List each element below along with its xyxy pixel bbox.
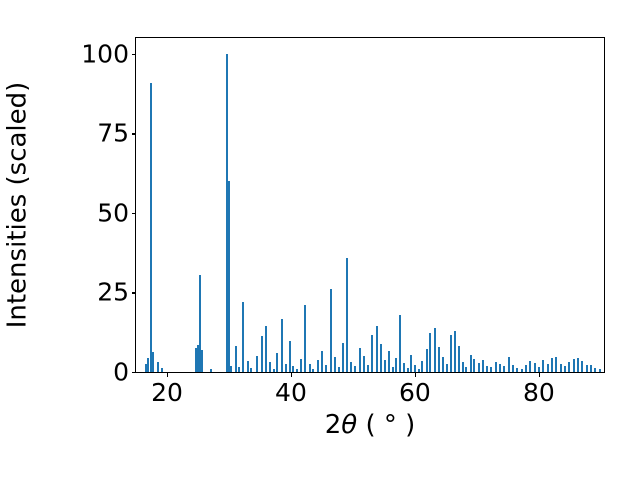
bar <box>242 302 244 372</box>
bar <box>490 367 492 372</box>
bar <box>503 366 505 372</box>
bar <box>273 369 275 372</box>
bar <box>250 368 252 372</box>
x-axis-label: 2θ ( ° ) <box>135 412 605 438</box>
plot-axes: 0255075100 20406080 <box>135 37 605 373</box>
bar <box>292 366 294 372</box>
bar <box>418 369 420 372</box>
xrd-figure: Intensities (scaled) 0255075100 20406080… <box>0 0 640 480</box>
x-tick-mark <box>167 372 168 377</box>
bar <box>473 359 475 372</box>
x-tick-mark <box>291 372 292 377</box>
bar <box>470 355 472 372</box>
bar <box>534 363 536 372</box>
bar <box>281 319 283 372</box>
bar <box>376 326 378 372</box>
bar <box>486 366 488 372</box>
bar <box>388 351 390 372</box>
bar <box>434 328 436 372</box>
x-tick-mark <box>415 372 416 377</box>
bar <box>312 369 314 372</box>
theta-symbol: θ <box>341 410 357 440</box>
bar <box>363 356 365 372</box>
y-tick-label: 25 <box>97 280 129 305</box>
bar <box>577 358 579 372</box>
bar <box>568 362 570 372</box>
y-tick-mark <box>132 372 137 373</box>
bar <box>564 366 566 372</box>
bar <box>367 365 369 372</box>
bar <box>551 358 553 372</box>
bar <box>555 357 557 372</box>
bar <box>300 359 302 372</box>
y-tick-label: 0 <box>113 360 129 385</box>
bar <box>581 361 583 372</box>
bar <box>446 364 448 372</box>
bar <box>458 346 460 372</box>
y-tick-mark <box>132 292 137 293</box>
bar <box>450 335 452 372</box>
bar <box>371 335 373 372</box>
bar <box>238 367 240 372</box>
bar <box>289 341 291 372</box>
bar <box>350 362 352 372</box>
bar <box>599 369 601 372</box>
bar <box>395 358 397 372</box>
bar <box>334 357 336 372</box>
bar <box>317 360 319 372</box>
bar <box>201 350 203 372</box>
bar <box>542 360 544 372</box>
bar <box>508 357 510 372</box>
bar <box>454 331 456 372</box>
y-tick-mark <box>132 213 137 214</box>
bar <box>426 349 428 372</box>
y-tick-label: 100 <box>81 41 129 66</box>
bar <box>529 361 531 372</box>
bar <box>590 365 592 372</box>
bar <box>338 367 340 372</box>
bar <box>380 344 382 372</box>
bar <box>325 365 327 372</box>
bar <box>414 365 416 372</box>
bar <box>465 367 467 372</box>
bar <box>261 336 263 372</box>
bar <box>438 347 440 372</box>
x-tick-label: 60 <box>399 380 431 405</box>
bar <box>304 305 306 372</box>
y-tick-mark <box>132 54 137 55</box>
bar <box>429 333 431 372</box>
bar <box>276 353 278 372</box>
y-tick-label: 75 <box>97 121 129 146</box>
bar <box>296 369 298 372</box>
bar <box>547 364 549 372</box>
bar <box>573 359 575 372</box>
x-tick-label: 40 <box>275 380 307 405</box>
bar <box>499 364 501 372</box>
bar <box>321 351 323 372</box>
bar <box>495 362 497 372</box>
bar <box>403 363 405 372</box>
bar <box>384 360 386 372</box>
bar <box>354 366 356 372</box>
x-tick-label: 20 <box>151 380 183 405</box>
x-axis-label-prefix: 2 <box>325 410 342 440</box>
bar <box>586 365 588 372</box>
bar <box>147 358 149 372</box>
bar <box>228 181 230 372</box>
bar <box>359 348 361 372</box>
bar <box>346 258 348 372</box>
bar <box>594 368 596 372</box>
x-tick-mark <box>539 372 540 377</box>
x-tick-label: 80 <box>523 380 555 405</box>
bar <box>330 289 332 372</box>
bar <box>512 365 514 372</box>
bar <box>152 352 154 372</box>
bar <box>210 369 212 372</box>
bar <box>442 357 444 372</box>
y-axis-label-text: Intensities (scaled) <box>4 82 30 329</box>
bar <box>256 356 258 372</box>
bar <box>309 364 311 372</box>
x-axis-label-suffix: ( ° ) <box>357 410 415 440</box>
bar <box>410 355 412 372</box>
bar <box>157 362 159 372</box>
bar <box>265 326 267 372</box>
bar <box>342 343 344 372</box>
bar <box>407 368 409 372</box>
bar <box>269 362 271 372</box>
bar <box>462 362 464 372</box>
y-axis-label: Intensities (scaled) <box>0 37 34 373</box>
plot-area <box>136 38 604 372</box>
bar <box>161 368 163 372</box>
y-tick-mark <box>132 133 137 134</box>
bar <box>392 367 394 372</box>
bar <box>516 368 518 372</box>
bar <box>421 361 423 372</box>
bar <box>285 364 287 372</box>
bar <box>150 83 152 372</box>
y-tick-label: 50 <box>97 200 129 225</box>
bar <box>230 366 232 372</box>
bar <box>478 363 480 372</box>
bar <box>482 360 484 372</box>
bar <box>399 315 401 372</box>
bar <box>521 369 523 372</box>
bar <box>560 364 562 372</box>
bar <box>525 365 527 372</box>
